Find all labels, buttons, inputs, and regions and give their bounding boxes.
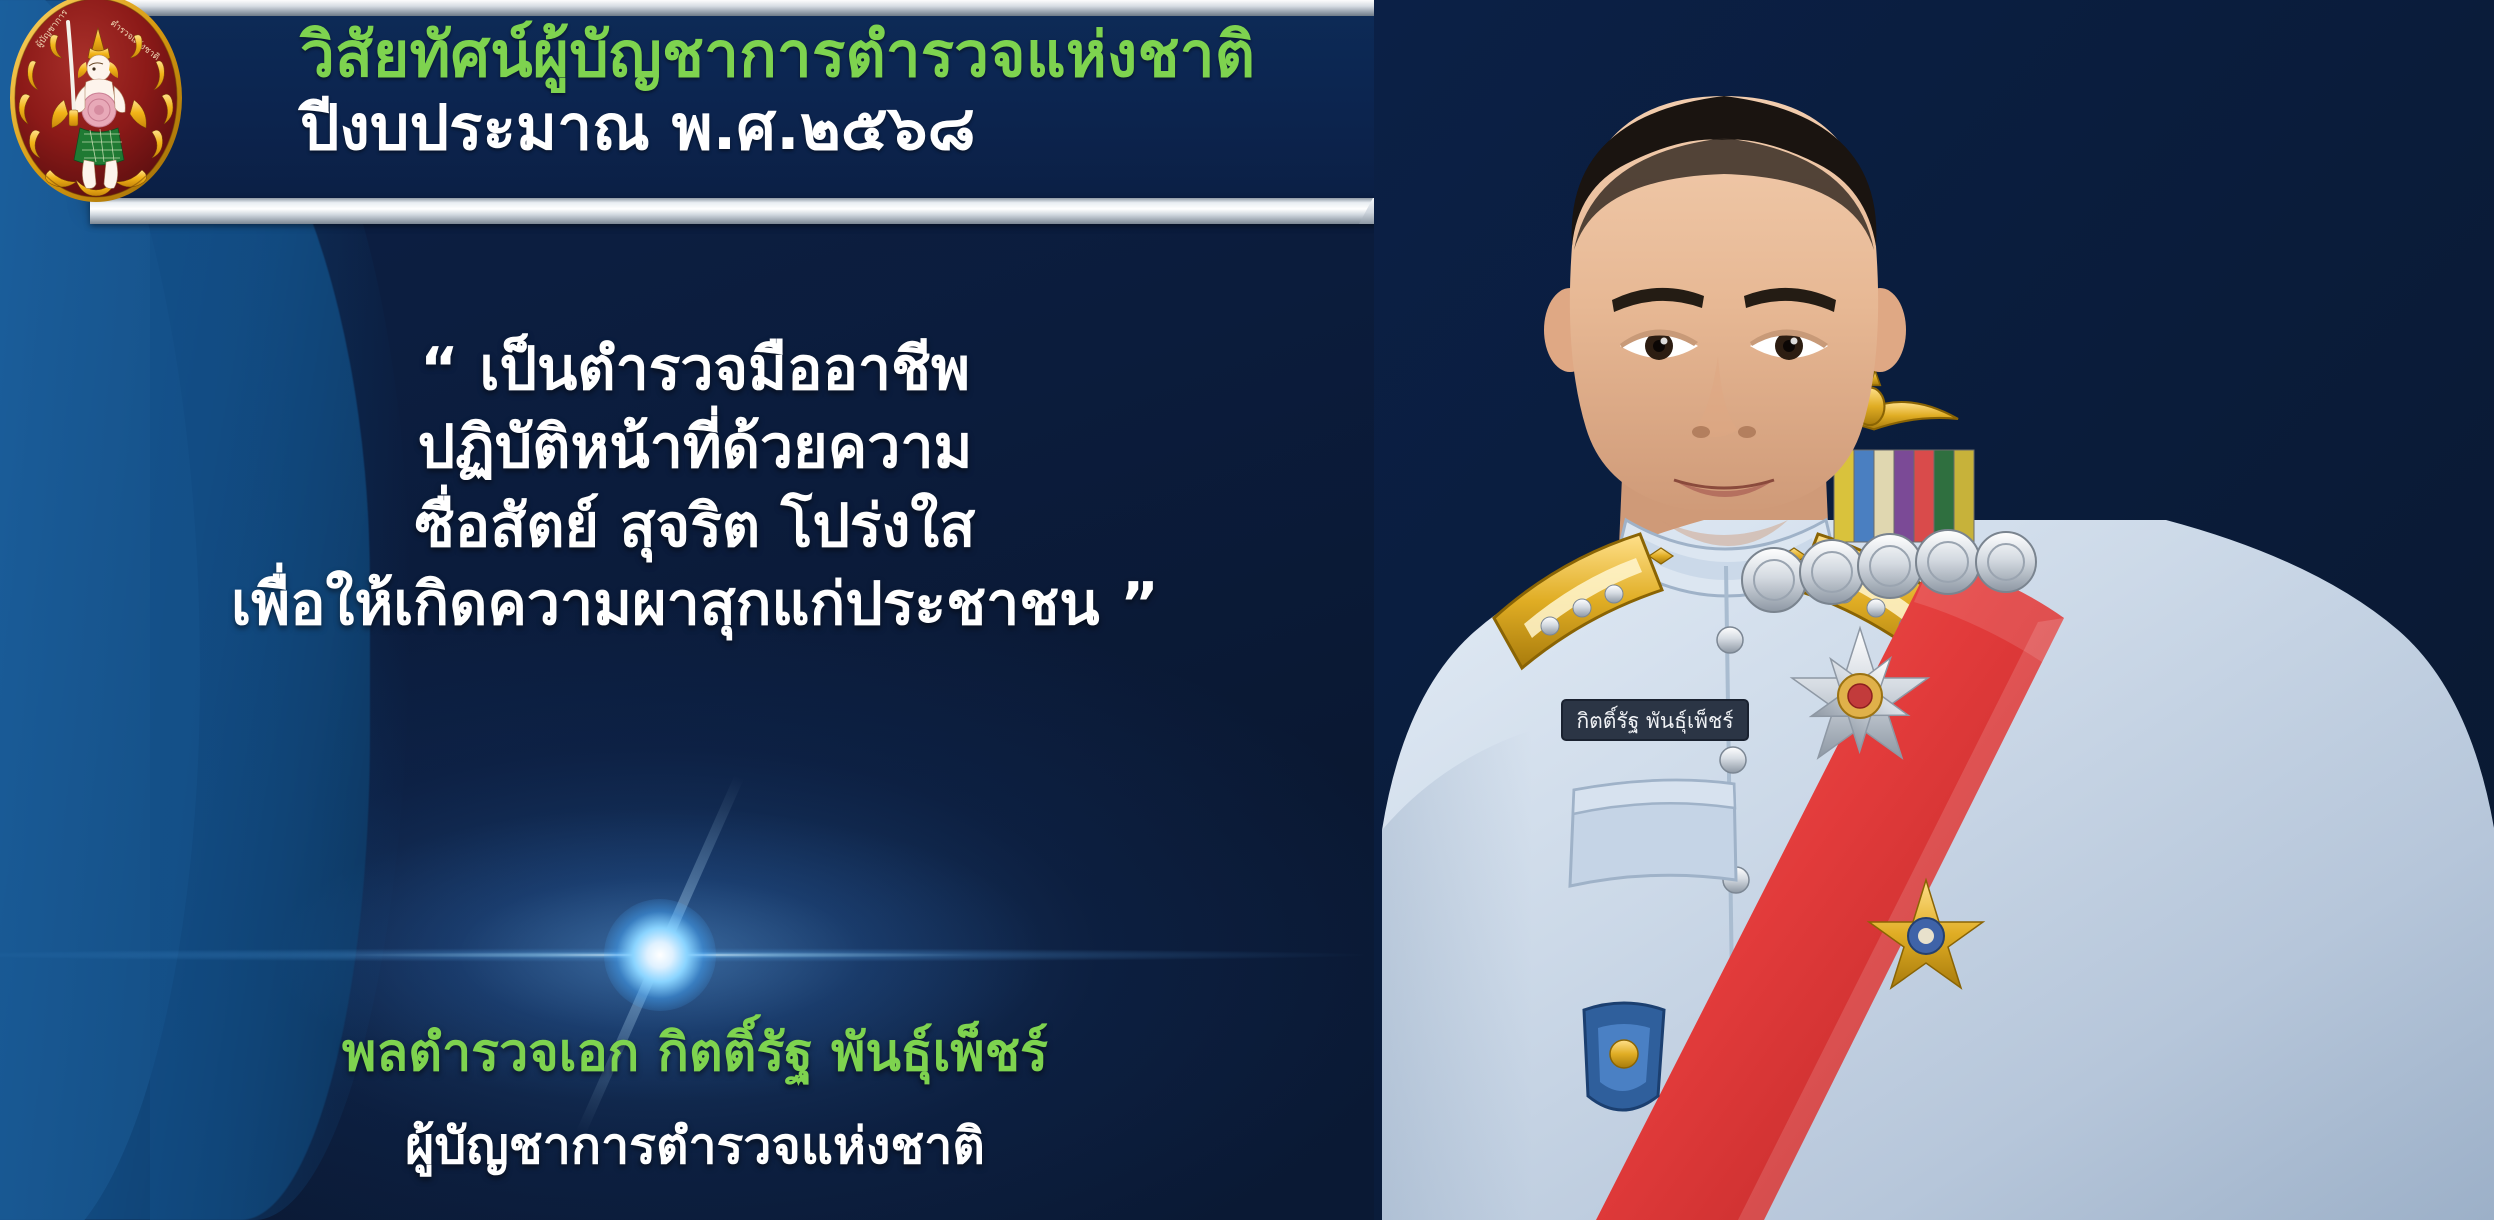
vision-heading-line2: ปีงบประมาณ พ.ศ.๒๕๖๘ — [300, 95, 1360, 162]
quote-line-1: “ เป็นตำรวจมืออาชีพ — [30, 330, 1360, 408]
poster-canvas: วิสัยทัศน์ผู้บัญชาการตำรวจแห่งชาติ ปีงบป… — [0, 0, 2494, 1220]
signature-block: พลตำรวจเอก กิตติ์รัฐ พันธุ์เพ็ชร์ ผู้บัญ… — [30, 1010, 1360, 1186]
commissioner-title: ผู้บัญชาการตำรวจแห่งชาติ — [30, 1107, 1360, 1186]
quote-line-4: เพื่อให้เกิดความผาสุกแก่ประชาชน ” — [30, 565, 1360, 643]
header-text-block: วิสัยทัศน์ผู้บัญชาการตำรวจแห่งชาติ ปีงบป… — [300, 22, 1360, 162]
quote-line-2: ปฏิบัติหน้าที่ด้วยความ — [30, 408, 1360, 486]
vision-heading-line1: วิสัยทัศน์ผู้บัญชาการตำรวจแห่งชาติ — [300, 22, 1360, 89]
quote-line-3: ซื่อสัตย์ สุจริต โปร่งใส — [30, 487, 1360, 565]
svg-text:กิตติ์รัฐ พันธุ์เพ็ชร์: กิตติ์รัฐ พันธุ์เพ็ชร์ — [1576, 705, 1733, 734]
vision-quote-block: “ เป็นตำรวจมืออาชีพ ปฏิบัติหน้าที่ด้วยคว… — [30, 330, 1360, 644]
police-commissioner-portrait: กิตติ์รัฐ พันธุ์เพ็ชร์ — [1374, 0, 2494, 1220]
chrome-bar-top — [90, 0, 1390, 16]
chrome-bar-bottom — [90, 198, 1392, 224]
royal-thai-police-emblem-icon: ผู้บัญชาการ ตำรวจแห่งชาติ — [6, 0, 186, 214]
lens-flare-core — [604, 899, 716, 1011]
commissioner-name: พลตำรวจเอก กิตติ์รัฐ พันธุ์เพ็ชร์ — [30, 1010, 1360, 1093]
